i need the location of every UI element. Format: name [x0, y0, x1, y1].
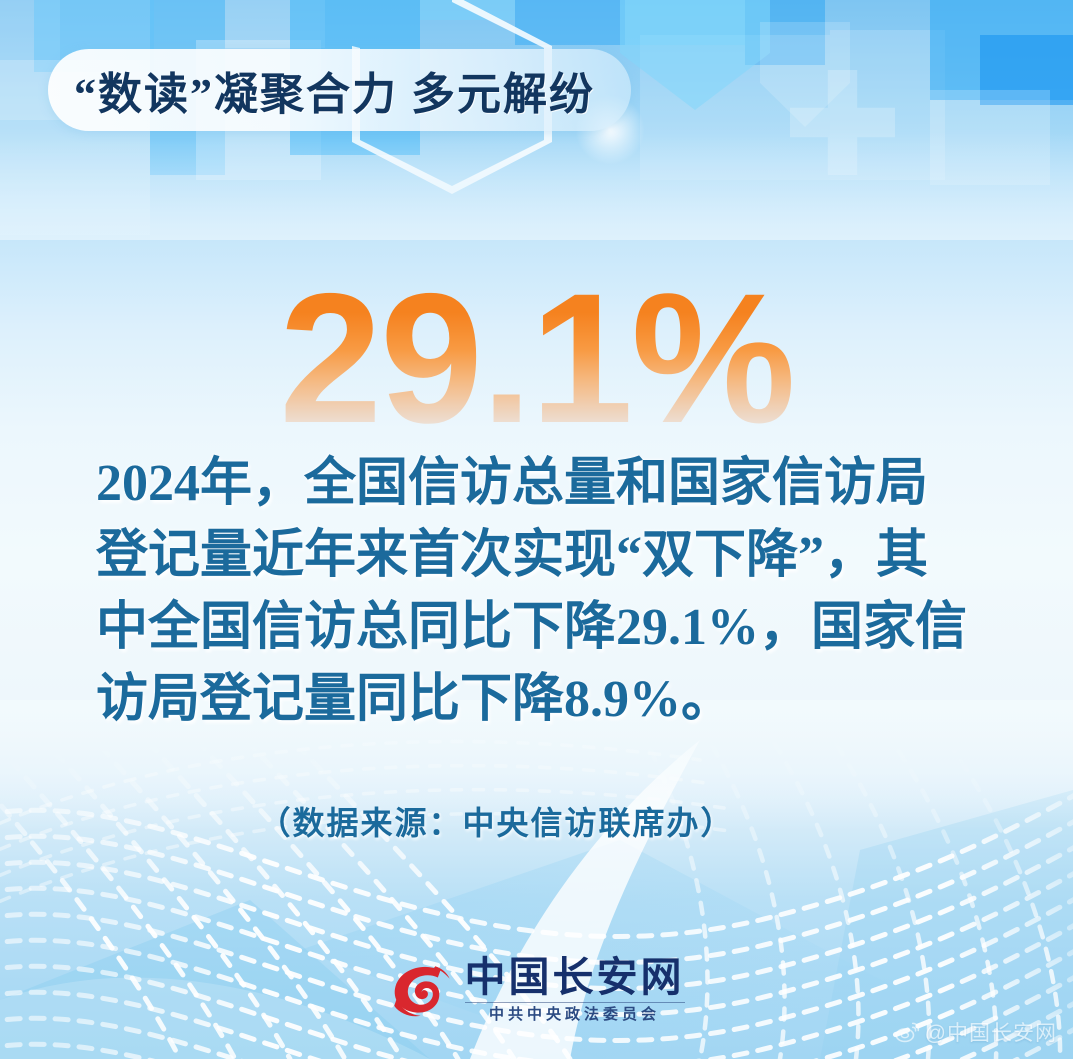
logo-subtitle: 中共中央政法委员会 [489, 1006, 660, 1024]
logo-text-column: 中国长安网 中共中央政法委员会 [465, 955, 685, 1024]
weibo-icon [895, 1021, 921, 1043]
body-line: 访局登记量同比下降8.9%。 [96, 664, 976, 736]
body-line: 2024年，全国信访总量和国家信访局 [96, 448, 976, 520]
headline-statistic: 29.1% [0, 262, 1073, 457]
body-paragraph: 2024年，全国信访总量和国家信访局 登记量近年来首次实现“双下降”，其 中全国… [96, 448, 976, 736]
title-banner: “数读”凝聚合力 多元解纷 [48, 49, 631, 131]
body-line: 登记量近年来首次实现“双下降”，其 [96, 520, 976, 592]
logo-title: 中国长安网 [465, 955, 685, 999]
brand-logo: 中国长安网 中共中央政法委员会 [0, 955, 1073, 1024]
infographic-poster: “数读”凝聚合力 多元解纷 29.1% [0, 0, 1073, 1059]
logo-divider [465, 1002, 685, 1003]
data-source-note: （数据来源：中央信访联席办） [0, 798, 1073, 844]
stat-value: 29.1% [279, 262, 794, 457]
body-line: 中全国信访总同比下降29.1%，国家信 [96, 592, 976, 664]
changanwang-swirl-logo-icon [389, 957, 455, 1023]
weibo-watermark: @中国长安网 [895, 1017, 1057, 1047]
watermark-text: @中国长安网 [925, 1017, 1057, 1047]
page-title: “数读”凝聚合力 多元解纷 [74, 58, 595, 122]
